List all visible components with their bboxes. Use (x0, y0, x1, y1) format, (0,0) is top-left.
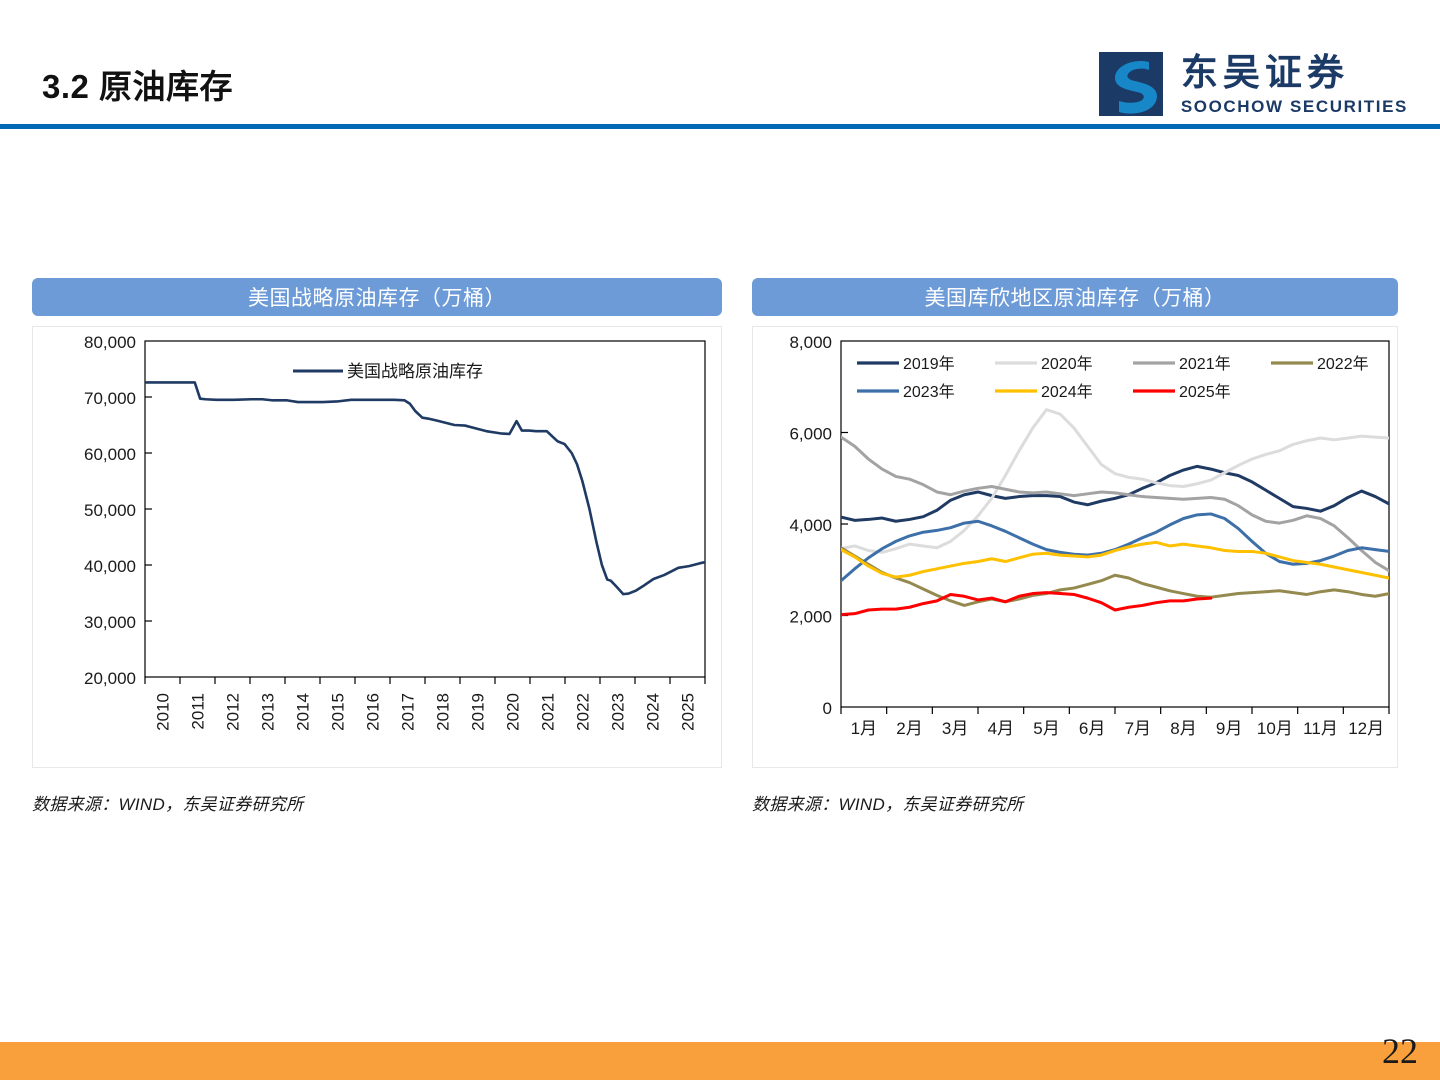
x-axis-tick-label: 2025 (679, 693, 698, 731)
soochow-logo-mark (1099, 48, 1171, 120)
chart-title-cushing: 美国库欣地区原油库存（万桶） (752, 278, 1398, 316)
x-axis-tick-label: 5月 (1033, 719, 1059, 738)
chart-frame-cushing: 02,0004,0006,0008,0001月2月3月4月5月6月7月8月9月1… (752, 326, 1398, 768)
y-axis-tick-label: 30,000 (84, 613, 136, 632)
x-axis-tick-label: 2022 (574, 693, 593, 731)
chart-legend: 2019年2020年2021年2022年2023年2024年2025年 (857, 355, 1369, 401)
source-note-cushing: 数据来源：WIND，东吴证券研究所 (752, 790, 1398, 815)
legend-label-美国战略原油库存: 美国战略原油库存 (347, 362, 483, 381)
y-axis-tick-label: 20,000 (84, 669, 136, 688)
x-axis-tick-label: 10月 (1257, 719, 1293, 738)
chart-panel-spr: 美国战略原油库存（万桶） 20,00030,00040,00050,00060,… (32, 278, 722, 815)
logo-mark-svg (1099, 48, 1171, 120)
chart-panel-cushing: 美国库欣地区原油库存（万桶） 02,0004,0006,0008,0001月2月… (752, 278, 1398, 815)
cushing-line-chart: 02,0004,0006,0008,0001月2月3月4月5月6月7月8月9月1… (753, 327, 1399, 767)
x-axis-tick-label: 2018 (434, 693, 453, 731)
x-axis-tick-label: 2013 (259, 693, 278, 731)
y-axis-tick-label: 6,000 (789, 425, 832, 444)
legend-label-2023年: 2023年 (903, 383, 955, 401)
x-axis-tick-label: 11月 (1303, 719, 1338, 738)
x-axis-tick-label: 2017 (399, 693, 418, 731)
footer-bar (0, 1042, 1440, 1080)
series-line-美国战略原油库存 (145, 382, 705, 594)
legend-label-2024年: 2024年 (1041, 383, 1093, 401)
series-line-2025年 (841, 593, 1211, 615)
legend-label-2021年: 2021年 (1179, 355, 1231, 373)
page-header: 3.2 原油库存 东吴证券 SOOCHOW SECURITIES (0, 0, 1440, 128)
x-axis-tick-label: 2010 (154, 693, 173, 731)
x-axis-tick-label: 8月 (1170, 719, 1196, 738)
x-axis-tick-label: 4月 (988, 719, 1014, 738)
legend-label-2022年: 2022年 (1317, 355, 1369, 373)
y-axis-tick-label: 80,000 (84, 333, 136, 352)
x-axis-tick-label: 2024 (644, 693, 663, 731)
plot-area-border (145, 341, 705, 677)
x-axis-tick-label: 2020 (504, 693, 523, 731)
x-axis-tick-label: 2016 (364, 693, 383, 731)
chart-legend: 美国战略原油库存 (293, 362, 483, 381)
y-axis-tick-label: 40,000 (84, 557, 136, 576)
spr-line-chart: 20,00030,00040,00050,00060,00070,00080,0… (33, 327, 723, 767)
chart-frame-spr: 20,00030,00040,00050,00060,00070,00080,0… (32, 326, 722, 768)
y-axis-tick-label: 8,000 (789, 333, 832, 352)
logo-text: 东吴证券 SOOCHOW SECURITIES (1181, 54, 1408, 115)
series-line-2022年 (841, 548, 1389, 606)
y-axis-tick-label: 4,000 (789, 516, 832, 535)
logo-name-cn: 东吴证券 (1181, 54, 1408, 91)
x-axis-tick-label: 2015 (329, 693, 348, 731)
company-logo: 东吴证券 SOOCHOW SECURITIES (1099, 48, 1408, 120)
x-axis-tick-label: 2月 (896, 719, 922, 738)
x-axis-tick-label: 1月 (851, 719, 877, 738)
legend-label-2025年: 2025年 (1179, 383, 1231, 401)
y-axis-tick-label: 50,000 (84, 501, 136, 520)
series-line-2024年 (841, 542, 1389, 578)
x-axis-tick-label: 2011 (189, 693, 208, 730)
page-number: 22 (1382, 1030, 1418, 1072)
logo-name-en: SOOCHOW SECURITIES (1181, 98, 1408, 115)
legend-label-2019年: 2019年 (903, 355, 955, 373)
x-axis-tick-label: 2023 (609, 693, 628, 731)
legend-label-2020年: 2020年 (1041, 355, 1093, 373)
x-axis-tick-label: 2019 (469, 693, 488, 731)
y-axis-tick-label: 0 (823, 699, 832, 718)
source-note-spr: 数据来源：WIND，东吴证券研究所 (32, 790, 722, 815)
x-axis-tick-label: 12月 (1348, 719, 1384, 738)
x-axis-tick-label: 2012 (224, 693, 243, 731)
x-axis-tick-label: 2014 (294, 693, 313, 731)
x-axis-tick-label: 6月 (1079, 719, 1105, 738)
chart-title-spr: 美国战略原油库存（万桶） (32, 278, 722, 316)
y-axis-tick-label: 60,000 (84, 445, 136, 464)
page-title: 3.2 原油库存 (42, 60, 233, 108)
y-axis-tick-label: 2,000 (789, 608, 832, 627)
x-axis-tick-label: 7月 (1125, 719, 1151, 738)
x-axis-tick-label: 3月 (942, 719, 968, 738)
y-axis-tick-label: 70,000 (84, 389, 136, 408)
x-axis-tick-label: 9月 (1216, 719, 1242, 738)
header-divider (0, 124, 1440, 129)
x-axis-tick-label: 2021 (539, 693, 558, 731)
